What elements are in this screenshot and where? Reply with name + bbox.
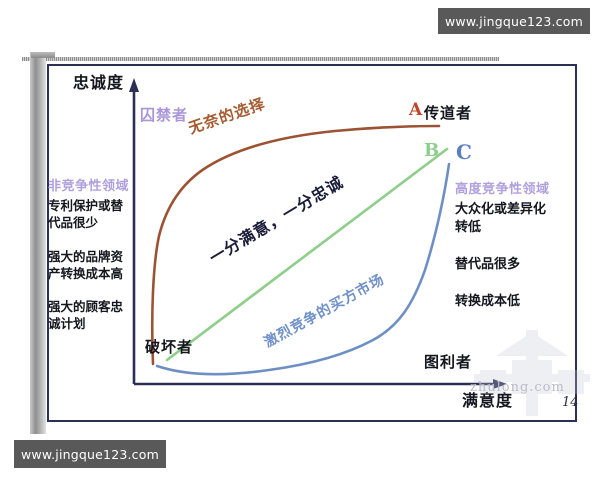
left-zone-title: 非竞争性领域 bbox=[48, 175, 138, 194]
left-zone-point-2: 强大的品牌资 产转换成本高 bbox=[48, 248, 138, 283]
left-zone-panel: 非竞争性领域 专利保护或替 代品很少 强大的品牌资 产转换成本高 强大的顾客忠 … bbox=[48, 175, 138, 349]
page-number: 14 bbox=[562, 395, 579, 410]
left-zone-point-3: 强大的顾客忠 诚计划 bbox=[48, 298, 138, 333]
marker-b-letter: B bbox=[424, 140, 439, 161]
left-rail-cap-decoration bbox=[31, 52, 55, 58]
left-zone-point-1: 专利保护或替 代品很少 bbox=[48, 197, 138, 232]
right-zone-panel: 高度竞争性领域 大众化或差异化 转低 替代品很多 转换成本低 bbox=[455, 178, 575, 330]
watermark-top-right: www.jingque123.com bbox=[438, 8, 590, 34]
top-rail-decoration bbox=[22, 57, 499, 61]
y-axis-label: 忠诚度 bbox=[73, 72, 124, 94]
right-zone-title: 高度竞争性领域 bbox=[455, 178, 575, 197]
left-rail-decoration bbox=[30, 52, 46, 434]
captive-zone-label: 囚禁者 bbox=[140, 104, 188, 125]
marker-a-label: 传道者 bbox=[424, 103, 472, 124]
profiteer-label: 图利者 bbox=[424, 352, 472, 373]
right-zone-point-3: 转换成本低 bbox=[455, 293, 575, 311]
watermark-bottom-left: www.jingque123.com bbox=[14, 440, 166, 468]
slide-canvas: 忠诚度 满意度 囚禁者 无奈的选择 一分满意，一分忠诚 激烈竞争的买方市场 A … bbox=[0, 0, 600, 480]
destroyer-label: 破坏者 bbox=[145, 337, 193, 358]
x-axis bbox=[134, 379, 507, 389]
right-zone-point-2: 替代品很多 bbox=[455, 256, 575, 274]
marker-c-letter: C bbox=[456, 140, 472, 164]
marker-a-letter: A bbox=[409, 100, 422, 120]
zhulong-watermark-text: zhulong.com bbox=[470, 380, 565, 395]
right-zone-point-1: 大众化或差异化 转低 bbox=[455, 201, 575, 237]
